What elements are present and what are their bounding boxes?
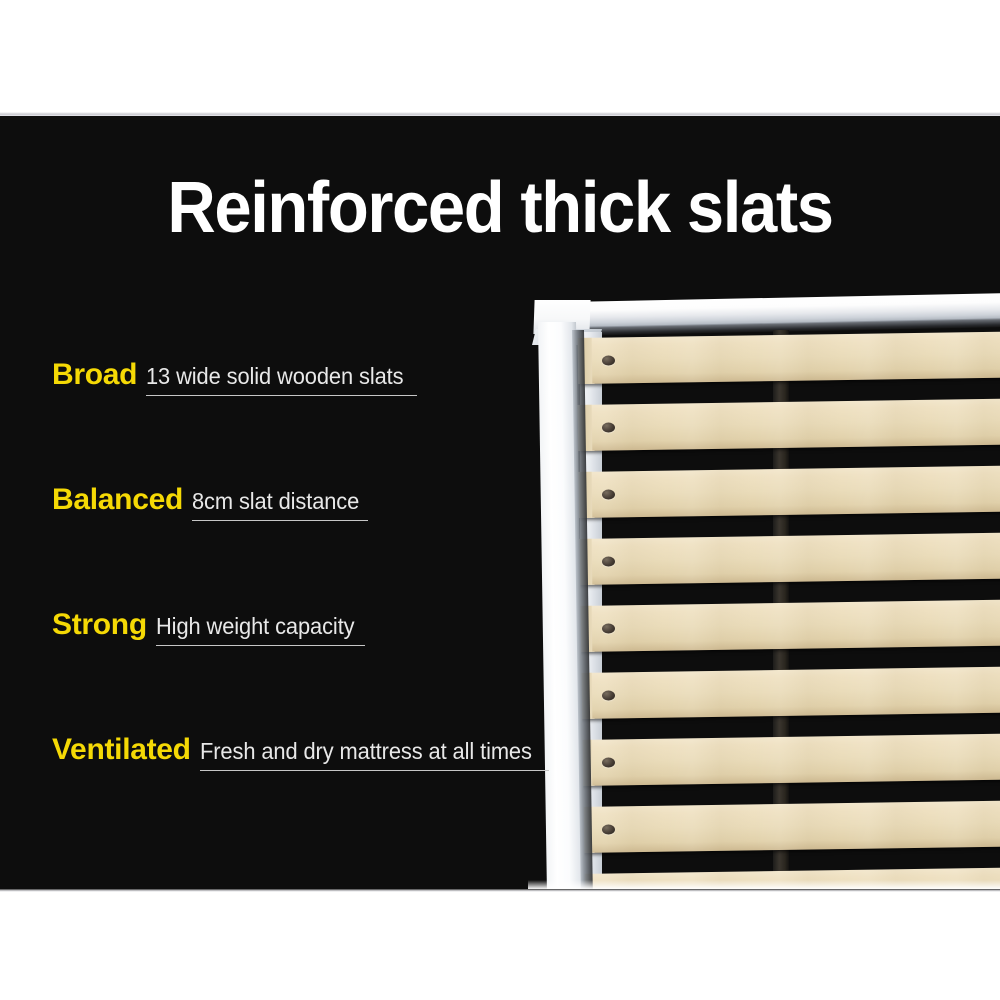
wooden-slat [578,734,1000,786]
slat-screw [602,757,615,767]
slat-screw [602,824,615,834]
wooden-slat [578,332,1000,384]
wooden-slat [578,667,1000,719]
feature-description-balanced: 8cm slat distance [192,490,359,513]
wooden-slat [578,801,1000,853]
slat-screw [602,489,615,499]
feature-description-strong: High weight capacity [156,615,355,638]
slat-screw [602,355,615,365]
feature-list: Broad 13 wide solid wooden slats Balance… [52,360,572,860]
slat-screw [602,690,615,700]
feature-desc-underline-ventilated: Fresh and dry mattress at all times [200,740,549,771]
panel-bottom-edge [0,889,1000,892]
feature-desc-underline-broad: 13 wide solid wooden slats [146,365,417,396]
feature-description-ventilated: Fresh and dry mattress at all times [200,740,532,763]
feature-label-strong: Strong [52,610,147,640]
wooden-slat [578,399,1000,451]
feature-label-broad: Broad [52,360,137,390]
feature-item-broad: Broad 13 wide solid wooden slats [52,360,572,485]
feature-item-balanced: Balanced 8cm slat distance [52,485,572,610]
feature-description-broad: 13 wide solid wooden slats [146,365,403,388]
wooden-slat [578,600,1000,652]
slat-screw [602,556,615,566]
feature-item-ventilated: Ventilated Fresh and dry mattress at all… [52,735,572,860]
feature-label-ventilated: Ventilated [52,735,191,765]
wooden-slat [578,466,1000,518]
feature-item-strong: Strong High weight capacity [52,610,572,735]
feature-desc-underline-strong: High weight capacity [156,615,365,646]
feature-label-balanced: Balanced [52,485,183,515]
feature-desc-underline-balanced: 8cm slat distance [192,490,368,521]
infographic-canvas: Reinforced thick slats Broad 13 wide sol… [0,0,1000,1000]
slat-screw [602,623,615,633]
page-title: Reinforced thick slats [35,172,965,244]
black-info-panel: Reinforced thick slats Broad 13 wide sol… [0,116,1000,891]
wooden-slat [578,533,1000,585]
slat-screw [602,422,615,432]
